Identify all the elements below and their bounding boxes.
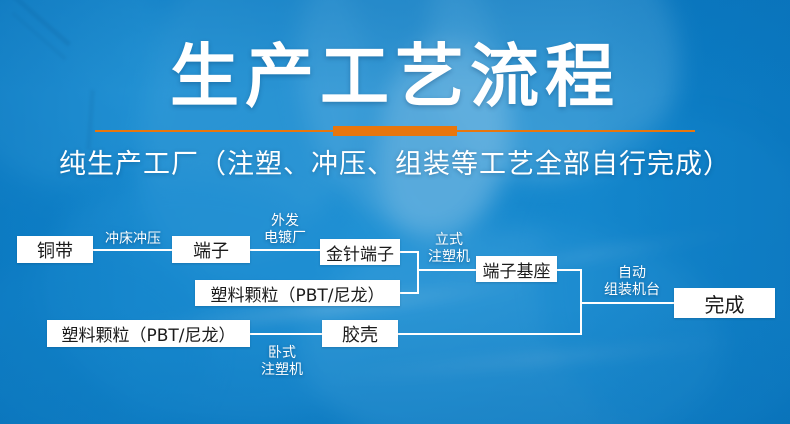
process-label-auto-assembly: 自动 组装机台 [593, 265, 671, 299]
process-flow-diagram: 铜带 端子 金针端子 塑料颗粒（PBT/尼龙） 端子基座 塑料颗粒（PBT/尼龙… [0, 0, 790, 424]
connector-pellets1-to-bracketA [399, 292, 419, 294]
connector-bracketB-to-finished [580, 302, 676, 304]
node-plastic-shell-label: 胶壳 [342, 321, 378, 347]
node-plastic-pellets-upper[interactable]: 塑料颗粒（PBT/尼龙） [195, 280, 400, 306]
node-finished[interactable]: 完成 [674, 288, 775, 318]
connector-bracketA-to-terminalbase [417, 269, 477, 271]
process-label-outsourced-plating: 外发 电镀厂 [252, 213, 318, 247]
node-copper-strip-label: 铜带 [37, 237, 73, 263]
node-plastic-pellets-lower-label: 塑料颗粒（PBT/尼龙） [61, 321, 235, 346]
node-finished-label: 完成 [705, 289, 745, 318]
connector-copper-to-terminal [92, 249, 174, 251]
node-terminal-base-label: 端子基座 [483, 257, 551, 282]
bracket-a-vertical [417, 251, 419, 294]
node-plastic-pellets-lower[interactable]: 塑料颗粒（PBT/尼龙） [47, 320, 250, 347]
process-label-punch-press: 冲床冲压 [96, 231, 170, 248]
node-terminal-base[interactable]: 端子基座 [476, 256, 557, 282]
connector-pellets2-to-shell [249, 333, 323, 335]
process-label-vertical-injection: 立式 注塑机 [423, 232, 475, 266]
node-gold-pin-terminal-label: 金针端子 [326, 240, 394, 265]
node-terminal[interactable]: 端子 [172, 236, 250, 263]
connector-terminal-to-goldpin [249, 249, 321, 251]
connector-shell-to-bracketB [397, 333, 582, 335]
node-gold-pin-terminal[interactable]: 金针端子 [320, 239, 400, 265]
process-label-horizontal-injection: 卧式 注塑机 [256, 345, 308, 379]
node-copper-strip[interactable]: 铜带 [17, 236, 93, 263]
connector-goldpin-to-bracketA [399, 251, 419, 253]
connector-terminalbase-to-bracketB [556, 269, 582, 271]
node-plastic-shell[interactable]: 胶壳 [322, 320, 398, 347]
node-terminal-label: 端子 [193, 237, 229, 263]
node-plastic-pellets-upper-label: 塑料颗粒（PBT/尼龙） [210, 281, 384, 306]
poster-canvas: 生产工艺流程 纯生产工厂（注塑、冲压、组装等工艺全部自行完成） 铜带 端子 金 [0, 0, 790, 424]
